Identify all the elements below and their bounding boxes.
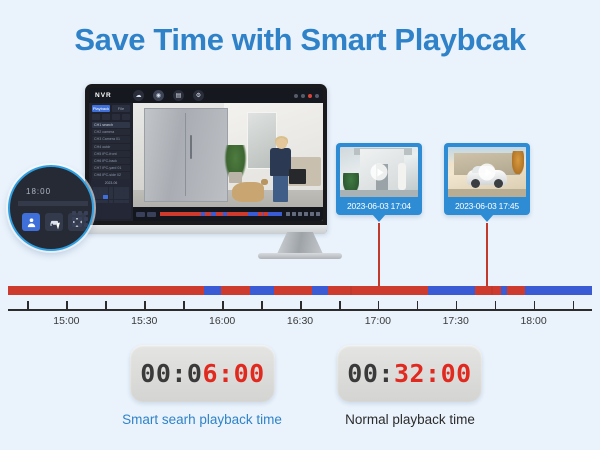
smart-playback-label: Smart searh playback time	[92, 412, 312, 427]
thumb-person	[398, 163, 407, 190]
calendar-day[interactable]	[103, 191, 108, 195]
video-timeline-segment	[227, 212, 248, 216]
timeline-tick	[378, 301, 380, 309]
timeline-tick-label: 16:00	[209, 315, 235, 327]
magnifier-dot	[72, 223, 76, 227]
magnifier-dot	[84, 211, 88, 215]
page-title: Save Time with Smart Playbcak	[0, 22, 600, 58]
event-pointer-1	[372, 214, 386, 222]
video-control-bar[interactable]	[133, 207, 323, 221]
tab-playback[interactable]: Playback	[92, 105, 110, 112]
filter-icon[interactable]	[112, 114, 120, 120]
calendar-day[interactable]	[98, 187, 103, 191]
magnifier-dot	[72, 217, 76, 221]
timeline-segment	[312, 286, 328, 295]
forward-icon[interactable]	[310, 212, 314, 216]
smart-clock-prefix: 00:0	[140, 359, 202, 388]
monitor-bezel: NVR ☁ ◉ ▤ ⚙ Playback Fi	[85, 84, 327, 232]
calendar-day[interactable]	[119, 195, 124, 199]
normal-clock-prefix: 00:	[347, 359, 394, 388]
timeline-axis: 15:0015:3016:0016:3017:0017:3018:00	[8, 309, 592, 311]
nvr-sidebar: Playback File CH1 searchCH2 cameraCH3 Ca…	[89, 103, 133, 221]
scene-dog	[232, 182, 264, 202]
calendar-day[interactable]	[114, 200, 119, 204]
list-icon[interactable]	[102, 114, 110, 120]
playback-timeline[interactable]: 15:0015:3016:0016:3017:0017:3018:00	[8, 286, 592, 311]
monitor-base	[258, 253, 342, 259]
refresh-icon[interactable]	[122, 114, 130, 120]
calendar-day[interactable]	[109, 195, 114, 199]
magnifier-dot	[72, 211, 76, 215]
timeline-tick	[222, 301, 224, 309]
timeline-tick-label: 17:30	[443, 315, 469, 327]
channel-row[interactable]: CH8 IPC-side 02	[92, 172, 130, 178]
pause-icon[interactable]	[292, 212, 296, 216]
event-thumbnail-2	[448, 147, 526, 197]
timeline-tick-label: 15:30	[131, 315, 157, 327]
calendar-day[interactable]	[109, 187, 114, 191]
calendar-day[interactable]	[98, 200, 103, 204]
infographic-canvas: Save Time with Smart Playbcak NVR ☁ ◉ ▤ …	[0, 0, 600, 450]
nvr-toolbar: NVR ☁ ◉ ▤ ⚙	[89, 88, 323, 103]
calendar-day[interactable]	[103, 200, 108, 204]
magnifier-timeline-strip	[18, 201, 88, 206]
timeline-segment	[250, 286, 273, 295]
monitor-neck	[277, 232, 323, 254]
stop-icon[interactable]	[298, 212, 302, 216]
timeline-tick	[534, 301, 536, 309]
magnifier-dot-grid	[72, 211, 88, 227]
channel-row[interactable]: CH7 IPC-yard 01	[92, 165, 130, 171]
normal-playback-clock: 00:32:00	[337, 345, 482, 402]
timeline-tick-label: 15:00	[53, 315, 79, 327]
video-timeline-segment	[160, 212, 201, 216]
event-timestamp-2: 2023-06-03 17:45	[448, 197, 526, 215]
timeline-segment	[525, 286, 592, 295]
calendar-day[interactable]	[98, 195, 103, 199]
play-icon[interactable]	[371, 164, 388, 181]
sidebar-tabs: Playback File	[92, 105, 130, 112]
timeline-segment	[507, 286, 525, 295]
calendar-day[interactable]	[114, 187, 119, 191]
alert-icon[interactable]	[308, 94, 312, 98]
playback-icon[interactable]: ▤	[173, 90, 184, 101]
video-timeline-segment	[216, 212, 224, 216]
thumb-wheel-right	[494, 179, 503, 188]
timeline-tick	[339, 301, 341, 309]
channel-row[interactable]: CH1 search	[92, 122, 130, 128]
thumb-wheel-left	[471, 179, 480, 188]
timeline-tick	[144, 301, 146, 309]
video-feed[interactable]	[133, 103, 323, 221]
timeline-segment	[428, 286, 475, 295]
calendar-day[interactable]	[114, 195, 119, 199]
channel-row[interactable]: CH5 IPC-front	[92, 151, 130, 157]
nvr-status-icons	[294, 94, 319, 98]
thumb-ground	[340, 190, 418, 197]
person-filter-button[interactable]	[22, 213, 40, 231]
calendar-day[interactable]	[109, 200, 114, 204]
event-card-2[interactable]: 2023-06-03 17:45	[444, 143, 530, 215]
normal-playback-label: Normal playback time	[300, 412, 520, 427]
grid-icon[interactable]	[92, 114, 100, 120]
scene-person-legs	[273, 174, 288, 202]
scene-bag	[289, 169, 306, 184]
channel-chip-2[interactable]	[147, 212, 156, 217]
video-timeline[interactable]	[160, 212, 282, 216]
tab-file[interactable]: File	[112, 105, 130, 112]
thumb-ground	[448, 189, 526, 197]
timeline-segment	[8, 286, 204, 295]
timeline-segment	[328, 286, 428, 295]
event-card-1[interactable]: 2023-06-03 17:04	[336, 143, 422, 215]
magnifier-dot	[78, 217, 82, 221]
event-pointer-2	[480, 214, 494, 222]
nvr-screen: NVR ☁ ◉ ▤ ⚙ Playback Fi	[89, 88, 323, 221]
timeline-tick	[456, 301, 458, 309]
timeline-segment	[221, 286, 250, 295]
timeline-tick	[183, 301, 185, 309]
scene-person-head	[276, 138, 287, 149]
video-left-chips	[136, 212, 156, 217]
snapshot-icon[interactable]	[316, 212, 320, 216]
timeline-tick	[66, 301, 68, 309]
person-icon	[26, 217, 37, 228]
calendar-day[interactable]	[93, 195, 98, 199]
timeline-tick	[573, 301, 575, 309]
timeline-segment	[475, 286, 501, 295]
magnifier-callout: 18:00	[8, 165, 94, 251]
calendar-day[interactable]	[124, 191, 129, 195]
thumb-tree	[512, 151, 524, 174]
scene-person-body	[270, 148, 291, 176]
calendar-widget[interactable]: 2023-06	[91, 179, 131, 219]
minimize-icon[interactable]	[294, 94, 298, 98]
play-icon[interactable]	[286, 212, 290, 216]
magnifier-dot	[78, 223, 82, 227]
magnifier-dot	[84, 217, 88, 221]
play-icon[interactable]	[479, 164, 496, 181]
calendar-day[interactable]	[114, 191, 119, 195]
timeline-tick	[261, 301, 263, 309]
sidebar-tool-icons	[92, 114, 130, 120]
channel-chip-1[interactable]	[136, 212, 145, 217]
magnifier-dot	[84, 223, 88, 227]
video-timeline-segment	[268, 212, 282, 216]
timeline-tick	[27, 301, 29, 309]
event-connector-1	[378, 223, 380, 289]
channel-row[interactable]: CH6 IPC-back	[92, 158, 130, 164]
smart-clock-highlight: 6:00	[203, 359, 265, 388]
calendar-day[interactable]	[98, 191, 103, 195]
monitor: NVR ☁ ◉ ▤ ⚙ Playback Fi	[85, 84, 327, 232]
smart-playback-clock: 00:06:00	[130, 345, 275, 402]
timeline-bar[interactable]	[8, 286, 592, 295]
timeline-tick	[105, 301, 107, 309]
channel-row[interactable]: CH3 Camera 01	[92, 136, 130, 142]
event-connector-2	[486, 223, 488, 289]
calendar-day[interactable]	[103, 187, 108, 191]
calendar-day[interactable]	[119, 191, 124, 195]
calendar-day[interactable]	[119, 200, 124, 204]
calendar-day[interactable]	[93, 191, 98, 195]
cloud-icon[interactable]: ☁	[133, 90, 144, 101]
calendar-day[interactable]	[124, 195, 129, 199]
nvr-logo: NVR	[95, 92, 133, 99]
timeline-segment	[274, 286, 312, 295]
timeline-tick	[495, 301, 497, 309]
calendar-day[interactable]	[103, 195, 108, 199]
timeline-segment	[204, 286, 222, 295]
gear-icon[interactable]: ⚙	[193, 90, 204, 101]
timeline-marker[interactable]	[350, 286, 352, 295]
timeline-tick-label: 17:00	[365, 315, 391, 327]
calendar-day[interactable]	[109, 191, 114, 195]
timeline-tick	[300, 301, 302, 309]
channel-row[interactable]: CH4 outdr	[92, 144, 130, 150]
event-timestamp-1: 2023-06-03 17:04	[340, 197, 418, 215]
timeline-tick	[417, 301, 419, 309]
calendar-day[interactable]	[124, 187, 129, 191]
magnifier-time-label: 18:00	[26, 187, 51, 196]
video-buttons	[286, 212, 320, 216]
power-icon[interactable]	[315, 94, 319, 98]
magnifier-dot	[78, 211, 82, 215]
calendar-grid[interactable]	[93, 187, 129, 203]
rewind-icon[interactable]	[304, 212, 308, 216]
event-thumbnail-1	[340, 147, 418, 197]
timeline-marker[interactable]	[491, 286, 493, 295]
channel-row[interactable]: CH2 camera	[92, 129, 130, 135]
calendar-header: 2023-06	[93, 181, 129, 186]
calendar-day[interactable]	[124, 200, 129, 204]
calendar-day[interactable]	[93, 187, 98, 191]
video-timeline-segment	[248, 212, 258, 216]
camera-icon[interactable]: ◉	[153, 90, 164, 101]
timeline-tick-label: 16:30	[287, 315, 313, 327]
normal-clock-highlight: 32:00	[394, 359, 472, 388]
settings-icon[interactable]	[301, 94, 305, 98]
scene-door	[144, 108, 228, 202]
scene-plant	[224, 145, 247, 183]
calendar-day[interactable]	[119, 187, 124, 191]
timeline-tick-label: 18:00	[520, 315, 546, 327]
